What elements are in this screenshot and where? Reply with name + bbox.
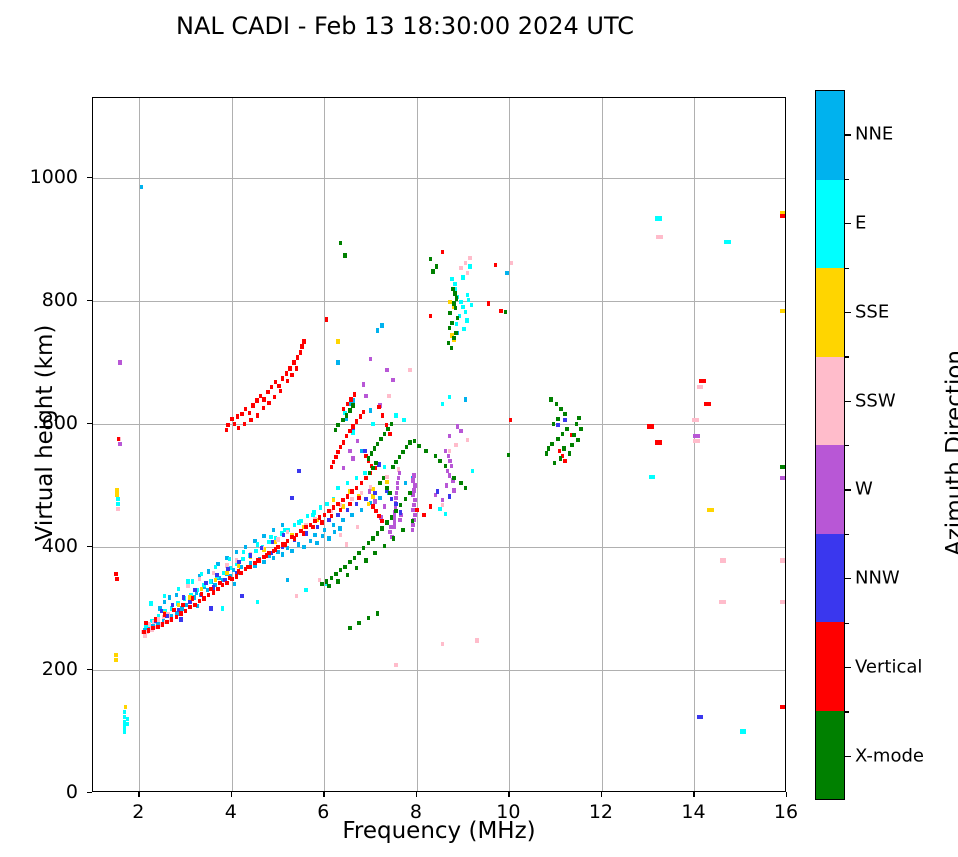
page-title: NAL CADI - Feb 13 18:30:00 2024 UTC xyxy=(0,12,810,40)
scatter-point xyxy=(225,571,228,575)
scatter-point xyxy=(237,426,240,430)
scatter-point xyxy=(693,439,700,443)
scatter-point xyxy=(357,621,360,625)
ionogram-figure: NAL CADI - Feb 13 18:30:00 2024 UTC 2468… xyxy=(0,0,958,857)
colorbar-boundary-tick xyxy=(845,711,849,712)
scatter-point xyxy=(448,326,451,330)
scatter-point xyxy=(297,520,300,524)
scatter-point xyxy=(429,257,432,261)
colorbar-boundary-tick xyxy=(845,623,849,624)
scatter-point xyxy=(355,502,358,506)
scatter-point xyxy=(413,439,416,443)
scatter-point xyxy=(367,456,370,460)
y-tick-label: 1000 xyxy=(8,166,78,188)
y-tick-mark xyxy=(87,177,92,178)
scatter-point xyxy=(393,520,396,524)
scatter-point xyxy=(371,536,374,540)
scatter-point xyxy=(334,572,337,576)
scatter-point xyxy=(154,617,157,621)
scatter-point xyxy=(290,373,293,377)
scatter-point xyxy=(181,603,184,607)
scatter-point xyxy=(338,526,341,530)
scatter-point xyxy=(364,497,367,501)
scatter-point xyxy=(269,535,272,539)
colorbar-boundary-tick xyxy=(845,534,849,535)
colorbar-tick xyxy=(845,223,851,224)
scatter-point xyxy=(494,263,497,267)
scatter-point xyxy=(373,551,376,555)
scatter-point xyxy=(441,498,444,502)
scatter-point xyxy=(461,305,464,309)
scatter-point xyxy=(193,588,196,592)
x-tick-mark xyxy=(416,792,417,797)
scatter-point xyxy=(441,250,444,254)
scatter-point xyxy=(399,510,402,514)
scatter-point xyxy=(348,626,351,630)
scatter-point xyxy=(373,491,376,495)
colorbar-tick xyxy=(845,489,851,490)
scatter-point xyxy=(254,549,257,553)
scatter-point xyxy=(441,503,444,507)
scatter-point xyxy=(156,625,159,629)
scatter-point xyxy=(444,449,447,453)
x-tick-mark xyxy=(693,792,694,797)
scatter-point xyxy=(355,486,358,490)
y-gridline xyxy=(93,547,785,548)
scatter-point xyxy=(411,528,414,532)
x-gridline xyxy=(694,98,695,791)
scatter-point xyxy=(319,505,322,509)
scatter-point xyxy=(398,518,401,522)
scatter-point xyxy=(431,269,434,273)
scatter-point xyxy=(117,437,120,441)
colorbar-label-ssw: SSW xyxy=(855,390,896,411)
scatter-point xyxy=(204,581,207,585)
scatter-point xyxy=(186,584,189,588)
scatter-point xyxy=(198,577,201,581)
scatter-point xyxy=(313,519,316,523)
scatter-point xyxy=(369,408,372,412)
scatter-point xyxy=(237,569,240,573)
scatter-point xyxy=(325,317,328,321)
scatter-point xyxy=(293,536,296,540)
scatter-point xyxy=(214,565,217,569)
x-gridline xyxy=(324,98,325,791)
colorbar-boundary-tick xyxy=(845,179,849,180)
scatter-point xyxy=(348,502,351,506)
scatter-point xyxy=(550,442,553,446)
scatter-point xyxy=(510,261,513,265)
scatter-point xyxy=(655,216,662,220)
scatter-point xyxy=(780,558,786,562)
scatter-point xyxy=(200,572,203,576)
scatter-point xyxy=(549,397,552,401)
scatter-point xyxy=(429,314,432,318)
scatter-point xyxy=(385,520,388,524)
scatter-point xyxy=(563,459,566,463)
colorbar-label-nne: NNE xyxy=(855,124,893,145)
x-tick-mark xyxy=(138,792,139,797)
scatter-point xyxy=(327,584,330,588)
scatter-point xyxy=(780,465,786,469)
scatter-point xyxy=(369,485,372,489)
scatter-point xyxy=(299,350,302,354)
scatter-point xyxy=(364,394,367,398)
scatter-point xyxy=(242,550,245,554)
colorbar-tick xyxy=(845,134,851,135)
scatter-point xyxy=(412,488,415,492)
scatter-point xyxy=(413,498,416,502)
scatter-point xyxy=(215,573,218,577)
scatter-point xyxy=(464,397,467,401)
scatter-point xyxy=(286,578,289,582)
scatter-point xyxy=(576,438,579,442)
scatter-point xyxy=(367,502,370,506)
scatter-point xyxy=(288,366,291,370)
scatter-point xyxy=(177,587,180,591)
scatter-point xyxy=(332,460,335,464)
scatter-point xyxy=(339,241,342,245)
scatter-point xyxy=(163,600,166,604)
scatter-point xyxy=(233,422,236,426)
colorbar-label-sse: SSE xyxy=(855,301,889,322)
scatter-point xyxy=(450,464,453,468)
scatter-point xyxy=(274,547,277,551)
scatter-point xyxy=(339,508,342,512)
scatter-point xyxy=(248,411,251,415)
scatter-point xyxy=(256,558,259,562)
scatter-point xyxy=(371,466,374,470)
scatter-point xyxy=(172,608,175,612)
scatter-point xyxy=(556,437,559,441)
scatter-point xyxy=(283,542,286,546)
scatter-point xyxy=(362,382,365,386)
colorbar-segment-vertical xyxy=(816,622,844,711)
scatter-point xyxy=(267,401,270,405)
scatter-point xyxy=(415,508,418,512)
scatter-point xyxy=(147,628,150,632)
scatter-point xyxy=(357,496,360,500)
scatter-point xyxy=(487,301,490,305)
scatter-point xyxy=(387,394,390,398)
scatter-point xyxy=(413,483,416,487)
scatter-point xyxy=(552,422,555,426)
scatter-point xyxy=(389,525,392,529)
scatter-point xyxy=(202,596,205,600)
scatter-point xyxy=(209,606,212,610)
scatter-point xyxy=(262,560,265,564)
colorbar-segment-nne xyxy=(816,91,844,180)
scatter-point xyxy=(277,384,280,388)
scatter-point xyxy=(260,546,263,550)
scatter-point xyxy=(237,563,240,567)
colorbar-tick xyxy=(845,756,851,757)
scatter-point xyxy=(182,595,185,599)
scatter-point xyxy=(475,638,478,642)
scatter-point xyxy=(336,579,339,583)
scatter-point xyxy=(505,271,508,275)
scatter-point xyxy=(334,428,337,432)
scatter-point xyxy=(235,574,238,578)
scatter-point xyxy=(394,496,397,500)
scatter-point xyxy=(293,523,296,527)
scatter-point xyxy=(780,705,786,709)
scatter-point xyxy=(446,469,449,473)
scatter-point xyxy=(371,504,374,508)
scatter-point xyxy=(363,471,366,475)
scatter-point xyxy=(286,530,289,534)
scatter-point xyxy=(292,360,295,364)
scatter-point xyxy=(371,494,374,498)
scatter-point xyxy=(237,560,240,564)
scatter-point xyxy=(452,488,455,492)
scatter-point xyxy=(323,528,326,532)
scatter-point xyxy=(336,339,339,343)
scatter-point xyxy=(380,519,383,523)
scatter-point xyxy=(382,476,385,480)
x-tick-mark xyxy=(601,792,602,797)
scatter-point xyxy=(547,446,550,450)
scatter-point xyxy=(342,466,345,470)
scatter-point xyxy=(367,541,370,545)
scatter-point xyxy=(281,376,284,380)
scatter-point xyxy=(504,310,507,314)
scatter-point xyxy=(471,469,474,473)
scatter-point xyxy=(374,509,377,513)
scatter-point xyxy=(575,422,578,426)
scatter-point xyxy=(404,497,407,501)
scatter-point xyxy=(318,515,321,519)
scatter-point xyxy=(369,357,372,361)
scatter-point xyxy=(241,557,244,561)
scatter-point xyxy=(649,475,656,479)
scatter-point xyxy=(346,494,349,498)
scatter-point xyxy=(376,611,379,615)
scatter-point xyxy=(343,253,346,257)
scatter-point xyxy=(359,414,362,418)
scatter-point xyxy=(368,489,371,493)
scatter-point xyxy=(281,523,284,527)
y-tick-mark xyxy=(87,792,92,793)
scatter-point xyxy=(114,658,117,662)
scatter-point xyxy=(349,397,352,401)
scatter-point xyxy=(356,525,359,529)
scatter-point xyxy=(467,298,470,302)
scatter-point xyxy=(470,303,473,307)
scatter-point xyxy=(385,475,388,479)
scatter-point xyxy=(740,729,747,733)
colorbar-label-x-mode: X-mode xyxy=(855,745,924,766)
scatter-point xyxy=(315,541,318,545)
scatter-point xyxy=(559,456,562,460)
scatter-point xyxy=(142,630,145,634)
scatter-point xyxy=(124,705,127,709)
scatter-point xyxy=(230,417,233,421)
colorbar-tick xyxy=(845,401,851,402)
scatter-point xyxy=(464,310,467,314)
scatter-point xyxy=(351,430,354,434)
scatter-point xyxy=(411,519,414,523)
scatter-point xyxy=(163,594,166,598)
scatter-point xyxy=(697,715,704,719)
scatter-point xyxy=(396,481,399,485)
colorbar-label: Azimuth Direction xyxy=(942,288,958,618)
scatter-point xyxy=(398,455,401,459)
scatter-point xyxy=(401,450,404,454)
scatter-point xyxy=(302,545,305,549)
x-tick-mark xyxy=(508,792,509,797)
scatter-point xyxy=(453,291,456,295)
scatter-point xyxy=(434,493,437,497)
scatter-point xyxy=(348,560,351,564)
scatter-point xyxy=(123,729,126,733)
scatter-point xyxy=(290,549,293,553)
scatter-point xyxy=(115,493,118,497)
scatter-point xyxy=(226,423,229,427)
scatter-point xyxy=(157,617,160,621)
plot-area xyxy=(92,97,786,792)
scatter-point xyxy=(780,214,786,218)
scatter-point xyxy=(459,429,462,433)
scatter-point xyxy=(509,418,512,422)
scatter-point xyxy=(438,507,441,511)
scatter-point xyxy=(256,413,259,417)
scatter-point xyxy=(114,653,117,657)
scatter-point xyxy=(448,449,451,453)
scatter-point xyxy=(332,505,335,509)
scatter-point xyxy=(330,465,333,469)
scatter-point xyxy=(545,451,548,455)
y-tick-mark xyxy=(87,423,92,424)
scatter-point xyxy=(346,573,349,577)
scatter-point xyxy=(647,424,654,428)
scatter-point xyxy=(345,542,348,546)
scatter-point xyxy=(451,287,454,291)
scatter-point xyxy=(394,509,397,513)
scatter-point xyxy=(175,593,178,597)
scatter-point xyxy=(394,502,397,506)
scatter-point xyxy=(209,587,212,591)
scatter-point xyxy=(459,481,462,485)
scatter-point xyxy=(373,446,376,450)
scatter-point xyxy=(374,461,377,465)
scatter-point xyxy=(116,502,119,506)
scatter-point xyxy=(273,395,276,399)
scatter-point xyxy=(377,514,380,518)
scatter-point xyxy=(334,455,337,459)
scatter-point xyxy=(321,534,324,538)
colorbar-segment-x-mode xyxy=(816,711,844,800)
scatter-point xyxy=(249,553,252,557)
scatter-point xyxy=(398,471,401,475)
scatter-point xyxy=(302,531,305,535)
x-gridline xyxy=(509,98,510,791)
scatter-point xyxy=(388,491,391,495)
scatter-point xyxy=(413,513,416,517)
scatter-point xyxy=(226,567,229,571)
scatter-point xyxy=(116,497,119,501)
scatter-point xyxy=(405,445,408,449)
scatter-point xyxy=(445,483,448,487)
scatter-point xyxy=(370,451,373,455)
scatter-point xyxy=(394,460,397,464)
scatter-point xyxy=(390,422,393,426)
y-axis-label: Virtual height (km) xyxy=(32,283,58,583)
scatter-point xyxy=(417,444,420,448)
colorbar-boundary-tick xyxy=(845,356,849,357)
scatter-point xyxy=(404,481,407,485)
scatter-point xyxy=(397,476,400,480)
scatter-point xyxy=(336,513,339,517)
scatter-point xyxy=(295,594,298,598)
scatter-point xyxy=(693,434,700,438)
y-gridline xyxy=(93,178,785,179)
scatter-point xyxy=(311,525,314,529)
scatter-point xyxy=(355,419,358,423)
scatter-point xyxy=(351,424,354,428)
scatter-point xyxy=(336,423,339,427)
scatter-point xyxy=(276,537,279,541)
scatter-point xyxy=(118,442,121,446)
scatter-point xyxy=(393,525,396,529)
colorbar-boundary-tick xyxy=(845,268,849,269)
scatter-point xyxy=(438,459,441,463)
scatter-point xyxy=(390,515,393,519)
scatter-point xyxy=(448,434,451,438)
colorbar-segment-e xyxy=(816,180,844,269)
scatter-point xyxy=(193,603,196,607)
scatter-point xyxy=(383,432,386,436)
scatter-point xyxy=(336,486,339,490)
scatter-point xyxy=(327,518,330,522)
scatter-point xyxy=(188,605,191,609)
scatter-point xyxy=(339,533,342,537)
scatter-point xyxy=(228,576,231,580)
scatter-point xyxy=(151,626,154,630)
scatter-point xyxy=(116,507,119,511)
colorbar-segment-ssw xyxy=(816,357,844,446)
scatter-point xyxy=(144,621,147,625)
x-gridline xyxy=(602,98,603,791)
scatter-point xyxy=(448,395,451,399)
scatter-point xyxy=(402,418,405,422)
scatter-point xyxy=(436,489,439,493)
scatter-point xyxy=(381,413,384,417)
scatter-point xyxy=(363,449,366,453)
scatter-point xyxy=(444,512,447,516)
x-tick-mark xyxy=(786,792,787,797)
scatter-point xyxy=(448,494,451,498)
scatter-point xyxy=(255,398,258,402)
scatter-point xyxy=(143,633,146,637)
y-tick-mark xyxy=(87,546,92,547)
scatter-point xyxy=(272,528,275,532)
x-axis-label: Frequency (MHz) xyxy=(92,818,786,844)
scatter-point xyxy=(454,443,457,447)
y-tick-mark xyxy=(87,669,92,670)
scatter-point xyxy=(350,513,353,517)
scatter-point xyxy=(373,499,376,503)
scatter-point xyxy=(244,545,247,549)
scatter-point xyxy=(378,496,381,500)
scatter-point xyxy=(342,440,345,444)
scatter-point xyxy=(355,566,358,570)
scatter-point xyxy=(191,579,194,583)
scatter-point xyxy=(240,594,243,598)
scatter-point xyxy=(225,428,228,432)
scatter-point xyxy=(555,402,558,406)
scatter-point xyxy=(216,587,219,591)
